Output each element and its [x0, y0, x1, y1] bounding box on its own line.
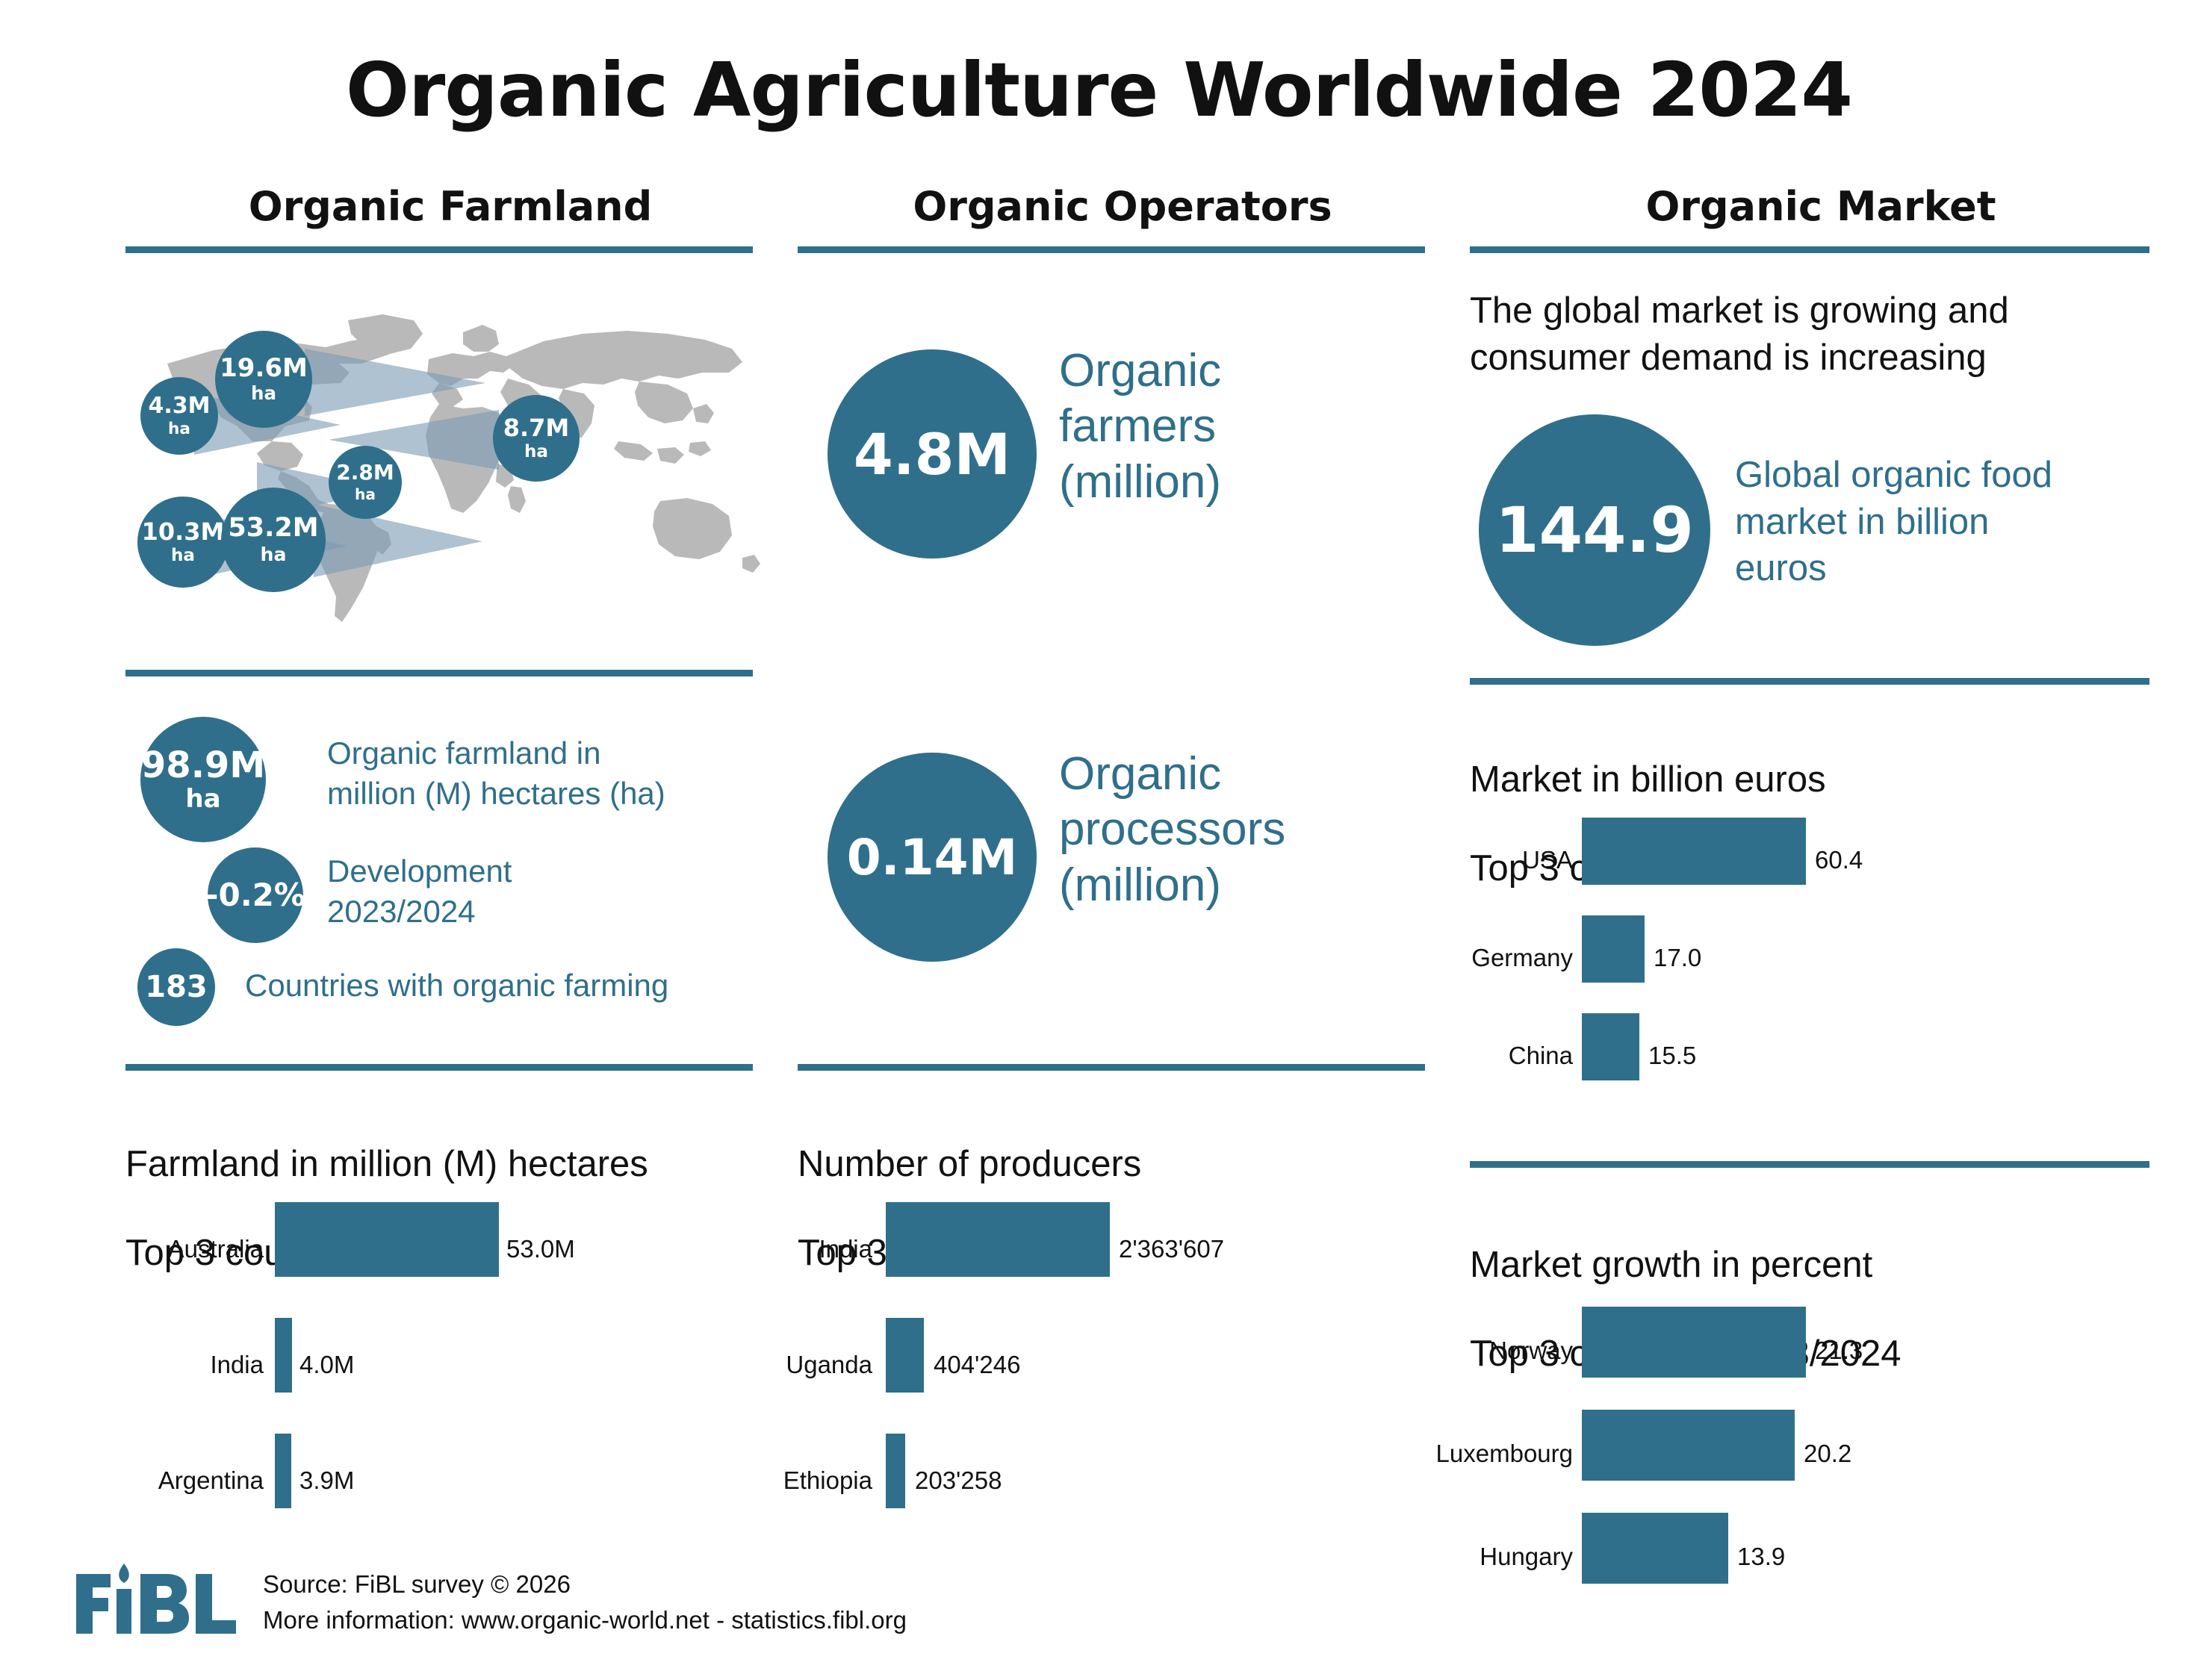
bar-value-label: 21.3: [1815, 1337, 1863, 1365]
chart-bars-farmland: Australia 53.0M India 4.0M Argentina 3.9…: [125, 1202, 768, 1516]
bar-rect: [1582, 818, 1806, 885]
map-bubble-africa: 2.8M ha: [329, 446, 402, 519]
infographic-page: Organic Agriculture Worldwide 2024 Organ…: [0, 0, 2198, 1680]
heading-divider-farmland: [125, 246, 753, 253]
map-bubble-europe: 19.6M ha: [215, 331, 312, 428]
divider-operators-chart: [798, 1064, 1425, 1071]
bar-row: Uganda 404'246: [798, 1318, 1440, 1407]
bar-category-label: India: [125, 1351, 264, 1379]
footer: Source: FiBL survey © 2026 More informat…: [75, 1553, 1120, 1658]
heading-divider-market: [1470, 246, 2149, 253]
key-figure-countries-label: Countries with organic farming: [245, 965, 708, 1006]
map-bubble-oceania: 53.2M ha: [221, 488, 326, 592]
map-bubble-asia: 8.7M ha: [493, 395, 580, 482]
bar-category-label: Ethiopia: [764, 1466, 872, 1495]
stat-organic-farmers: 4.8M Organic farmers (million): [798, 349, 1447, 566]
bar-row: Australia 53.0M: [125, 1202, 768, 1292]
footer-source: Source: FiBL survey © 2026: [263, 1567, 907, 1602]
fibl-logo: [75, 1559, 238, 1640]
bar-category-label: Uganda: [769, 1351, 872, 1379]
bar-rect: [886, 1202, 1110, 1277]
bar-rect: [275, 1202, 499, 1277]
bar-category-label: Luxembourg: [1412, 1440, 1573, 1468]
bar-category-label: China: [1453, 1042, 1573, 1070]
bar-value-label: 17.0: [1654, 944, 1701, 972]
key-figure-development-label: Development 2023/2024: [327, 851, 671, 932]
bar-row: USA 60.4: [1470, 818, 2164, 896]
bar-rect: [1582, 1410, 1795, 1481]
bar-row: Germany 17.0: [1470, 915, 2164, 994]
bar-row: Luxembourg 20.2: [1470, 1410, 2164, 1492]
page-title: Organic Agriculture Worldwide 2024: [0, 46, 2198, 134]
bar-category-label: USA: [1470, 846, 1573, 874]
bar-rect: [1582, 1513, 1728, 1584]
chart-bars-market-growth: Norway 21.3 Luxembourg 20.2 Hungary 13.9: [1470, 1307, 2164, 1605]
key-figure-development-bubble: -0.2%: [208, 847, 303, 943]
stat-circle-global-market: 144.9: [1479, 414, 1710, 646]
chart-bars-market: USA 60.4 Germany 17.0 China 15.5: [1470, 818, 2164, 1101]
stat-label-processors: Organic processors (million): [1059, 747, 1418, 913]
bar-rect: [275, 1434, 291, 1508]
divider-farmland-chart: [125, 1064, 753, 1071]
divider-market-growth: [1470, 1161, 2149, 1168]
bar-row: India 4.0M: [125, 1318, 768, 1407]
bar-value-label: 15.5: [1648, 1042, 1696, 1070]
column-heading-operators: Organic Operators: [798, 183, 1447, 230]
stat-organic-processors: 0.14M Organic processors (million): [798, 753, 1447, 969]
bar-value-label: 4.0M: [299, 1351, 354, 1379]
map-bubble-north-america: 4.3M ha: [140, 377, 218, 455]
chart-market-growth-top3: Market growth in percent Top 3 countries…: [1470, 1198, 2164, 1617]
bar-category-label: India: [798, 1235, 872, 1263]
bar-row: Norway 21.3: [1470, 1307, 2164, 1389]
bar-rect: [886, 1318, 924, 1393]
bar-value-label: 2'363'607: [1119, 1235, 1224, 1263]
bar-value-label: 53.0M: [506, 1235, 575, 1263]
bar-rect: [886, 1434, 905, 1508]
bar-row: Ethiopia 203'258: [798, 1434, 1440, 1523]
key-figure-farmland-bubble: 98.9M ha: [140, 717, 266, 842]
bar-value-label: 404'246: [934, 1351, 1020, 1379]
chart-producers-top3: Number of producers Top 3 countries Indi…: [798, 1098, 1440, 1531]
bar-row: India 2'363'607: [798, 1202, 1440, 1292]
stat-global-market: 144.9 Global organic food market in bill…: [1470, 414, 2172, 646]
divider-farmland-keyfigures: [125, 670, 753, 676]
column-heading-market: Organic Market: [1470, 183, 2172, 230]
bar-row: Hungary 13.9: [1470, 1513, 2164, 1595]
bar-value-label: 13.9: [1737, 1543, 1785, 1571]
bar-category-label: Australia: [125, 1235, 264, 1263]
chart-bars-producers: India 2'363'607 Uganda 404'246 Ethiopia …: [798, 1202, 1440, 1516]
bar-category-label: Norway: [1453, 1337, 1573, 1365]
column-heading-farmland: Organic Farmland: [125, 183, 775, 230]
stat-circle-farmers: 4.8M: [828, 349, 1037, 559]
bar-rect: [1582, 1013, 1639, 1080]
stat-label-farmers: Organic farmers (million): [1059, 343, 1418, 510]
footer-text: Source: FiBL survey © 2026 More informat…: [263, 1567, 907, 1638]
bar-value-label: 20.2: [1804, 1440, 1851, 1468]
bar-row: China 15.5: [1470, 1013, 2164, 1092]
bar-category-label: Argentina: [125, 1466, 264, 1495]
key-figure-countries-bubble: 183: [137, 948, 215, 1026]
bar-value-label: 60.4: [1815, 846, 1863, 874]
bar-value-label: 3.9M: [299, 1466, 354, 1495]
heading-divider-operators: [798, 246, 1425, 253]
world-map: 4.3M ha 19.6M ha 8.7M ha 2.8M ha 10.3M h…: [125, 295, 775, 638]
footer-more-info: More information: www.organic-world.net …: [263, 1602, 907, 1638]
map-bubble-latin-america: 10.3M ha: [137, 497, 229, 588]
key-figure-farmland-label: Organic farmland in million (M) hectares…: [327, 733, 723, 814]
bar-row: Argentina 3.9M: [125, 1434, 768, 1523]
stat-circle-processors: 0.14M: [828, 753, 1037, 962]
chart-market-top3: Market in billion euros Top 3 countries …: [1470, 713, 2164, 1101]
divider-market-top3: [1470, 678, 2149, 685]
stat-label-global-market: Global organic food market in billion eu…: [1735, 452, 2086, 592]
bar-rect: [275, 1318, 292, 1393]
key-figures-group: 98.9M ha Organic farmland in million (M)…: [125, 717, 775, 1038]
bar-category-label: Germany: [1434, 944, 1573, 972]
bar-value-label: 203'258: [915, 1466, 1002, 1495]
bar-category-label: Hungary: [1434, 1543, 1573, 1571]
market-intro-text: The global market is growing and consume…: [1470, 287, 2142, 381]
bar-rect: [1582, 1307, 1806, 1378]
bar-rect: [1582, 915, 1645, 983]
chart-farmland-top3: Farmland in million (M) hectares Top 3 c…: [125, 1098, 768, 1531]
